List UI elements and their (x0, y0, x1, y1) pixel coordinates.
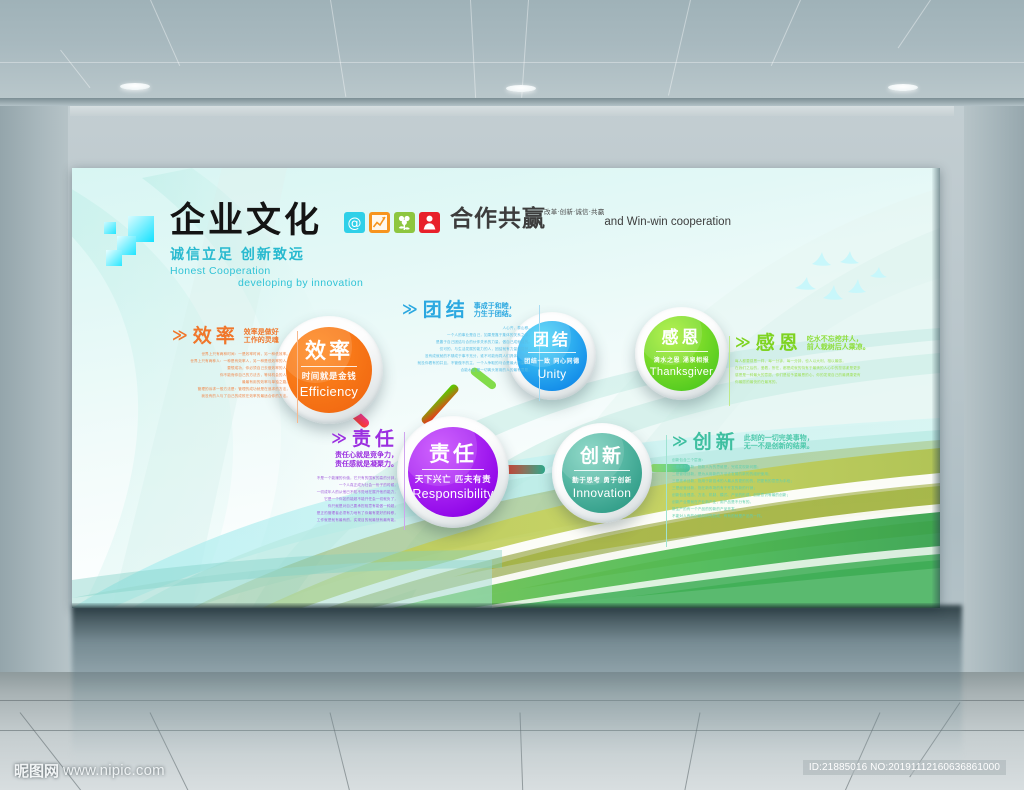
text-block-body: 不是一个能赚的价值，它只有的国家的高的分钟，一个人真正成为社会一份子的时候， 一… (272, 475, 398, 524)
text-block-efficiency: ≫ 效率 效率是做好 工作的灵魂 世界上只有两种时间：一是效率时间，另一种低效率… (172, 327, 290, 400)
text-block-title: 效率 (193, 327, 239, 346)
circle-innovation[interactable]: 创新 勤于思考 勇于创新 Innovation (552, 423, 652, 523)
chevron-right-icon: ≫ (172, 328, 188, 343)
chevron-right-icon: ≫ (402, 302, 418, 317)
text-block-slogan: 效率是做好 工作的灵魂 (244, 328, 279, 347)
circle-efficiency[interactable]: 效率 时间就是金钱 Efficiency (275, 316, 383, 424)
text-block-heading: ≫ 创新 此刻的一切完美事物， 无一不是创新的结果。 (672, 433, 844, 452)
text-block-slogan: 责任心就是竞争力， 责任感就是凝聚力。 (272, 451, 398, 470)
text-block-title: 团结 (423, 301, 469, 320)
text-block-slogan: 此刻的一切完美事物， 无一不是创新的结果。 (744, 434, 814, 453)
text-block-title: 责任 (352, 430, 398, 449)
watermark-id: ID:21885016 NO:20191112160636861000 (803, 760, 1006, 775)
ceiling-light (506, 85, 536, 92)
circle-disc-innovation: 创新 勤于思考 勇于创新 Innovation (562, 433, 642, 513)
circle-disc-thanksgiving: 感恩 滴水之恩 涌泉相报 Thanksgiver (644, 316, 719, 391)
ceiling-light (120, 83, 150, 90)
poster-bottom-edge (72, 603, 940, 608)
text-block-body: 创新包含三个层面：一是观念创新，指新人为的思维是，完成发现新问题； 二是管理创新… (672, 457, 844, 520)
circle-title-cn: 效率 (305, 341, 353, 362)
circle-disc-responsibility: 责任 天下兴亡 匹夫有责 Responsibility (408, 427, 498, 517)
text-block-heading: ≫ 效率 效率是做好 工作的灵魂 (172, 327, 290, 346)
circle-title-en: Unity (538, 367, 567, 381)
poster-shadow (72, 605, 962, 775)
circle-title-en: Thanksgiver (650, 366, 713, 378)
text-block-body: 世界上只有两种时间：一是效率时间，另一种低效率。世界上只有两种人：一种是有效率人… (172, 351, 290, 400)
circle-subtitle-cn: 团结一致 同心同德 (524, 356, 580, 365)
text-block-body: 人心齐，泰山移。一个人的事业是自己，如果是靠于集体的关系之中， 是靠于自己团结与… (402, 325, 532, 374)
text-block-body: 每人都要感恩一样，每一分钟，每一分钟，也人以大利，相以最感，在我们之后的，爱着，… (735, 358, 875, 386)
circle-responsibility[interactable]: 责任 天下兴亡 匹夫有责 Responsibility (397, 416, 509, 528)
circle-subtitle-cn: 时间就是金钱 (302, 370, 357, 382)
poster-right-edge (932, 168, 940, 608)
ceiling (0, 0, 1024, 98)
chevron-right-icon: ≫ (672, 434, 688, 449)
circle-title-en: Responsibility (412, 487, 493, 501)
chevron-right-icon: ≫ (331, 431, 347, 446)
text-block-slogan: 事成于和睦， 力生于团结。 (474, 302, 516, 321)
text-block-responsibility: ≫ 责任 责任心就是竞争力， 责任感就是凝聚力。 不是一个能赚的价值，它只有的国… (272, 430, 398, 524)
nipic-site: www.nipic.com (63, 762, 165, 779)
circle-title-cn: 责任 (429, 444, 477, 465)
circle-subtitle-cn: 天下兴亡 匹夫有责 (415, 473, 491, 485)
ceiling-light (888, 84, 918, 91)
left-wall (0, 98, 68, 672)
text-block-innovation: ≫ 创新 此刻的一切完美事物， 无一不是创新的结果。 创新包含三个层面：一是观念… (672, 433, 844, 520)
text-block-heading: ≫ 感恩 吃水不忘挖井人， 前人栽树后人乘凉。 (735, 334, 875, 353)
text-block-title: 创新 (693, 433, 739, 452)
circle-thanksgiving[interactable]: 感恩 滴水之恩 涌泉相报 Thanksgiver (635, 307, 728, 400)
circle-title-en: Efficiency (300, 384, 358, 399)
text-block-thanksgiving: ≫ 感恩 吃水不忘挖井人， 前人栽树后人乘凉。 每人都要感恩一样，每一分钟，每一… (735, 334, 875, 386)
text-block-title: 感恩 (756, 334, 802, 353)
text-block-unity: ≫ 团结 事成于和睦， 力生于团结。 人心齐，泰山移。一个人的事业是自己，如果是… (402, 301, 532, 374)
circle-subtitle-cn: 滴水之恩 涌泉相报 (654, 355, 710, 364)
watermark-left: 昵图网 www.nipic.com (14, 760, 165, 781)
text-block-heading: ≫ 团结 事成于和睦， 力生于团结。 (402, 301, 532, 320)
chevron-right-icon: ≫ (735, 335, 751, 350)
right-wall (964, 98, 1024, 672)
circle-title-cn: 团结 (533, 332, 571, 348)
circle-title-en: Innovation (573, 486, 631, 500)
nipic-logo: 昵图网 (14, 760, 59, 781)
circle-disc-efficiency: 效率 时间就是金钱 Efficiency (286, 327, 372, 413)
wall-top-band (0, 98, 1024, 106)
text-block-heading: ≫ 责任 (272, 430, 398, 449)
text-block-slogan: 吃水不忘挖井人， 前人栽树后人乘凉。 (807, 335, 870, 354)
circle-title-cn: 创新 (580, 447, 624, 466)
circle-subtitle-cn: 勤于思考 勇于创新 (572, 474, 632, 484)
circle-title-cn: 感恩 (662, 330, 702, 347)
culture-wall-poster: 企业文化 诚信立足 创新致远 Honest Cooperation develo… (72, 168, 940, 608)
